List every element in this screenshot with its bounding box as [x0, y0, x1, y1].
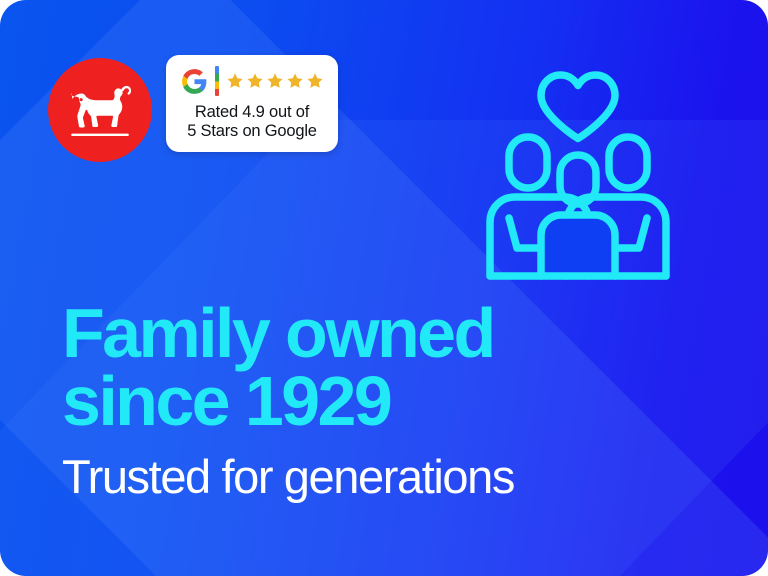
star-icon: [226, 72, 244, 90]
subheadline: Trusted for generations: [62, 452, 722, 501]
adult-right-head: [609, 137, 647, 188]
badge-rating-row: [176, 64, 328, 98]
promo-banner: Rated 4.9 out of 5 Stars on Google: [0, 0, 768, 576]
google-g-icon: [181, 68, 208, 95]
brand-dog-logo: [48, 58, 152, 162]
adult-left-head: [509, 137, 547, 188]
star-icon: [266, 72, 284, 90]
dog-silhouette-icon: [63, 73, 137, 147]
star-rating: [226, 72, 324, 90]
star-icon: [286, 72, 304, 90]
rating-text: Rated 4.9 out of 5 Stars on Google: [176, 103, 328, 142]
heart-shape: [541, 75, 615, 139]
family-with-heart-icon: [478, 58, 678, 286]
google-color-divider: [215, 66, 219, 96]
page-title: Family owned since 1929: [62, 300, 722, 436]
star-icon: [306, 72, 324, 90]
copy-block: Family owned since 1929 Trusted for gene…: [62, 300, 722, 501]
child-body: [541, 215, 615, 276]
star-icon: [246, 72, 264, 90]
family-icon-art: [478, 58, 678, 286]
google-review-badge[interactable]: Rated 4.9 out of 5 Stars on Google: [166, 55, 338, 152]
